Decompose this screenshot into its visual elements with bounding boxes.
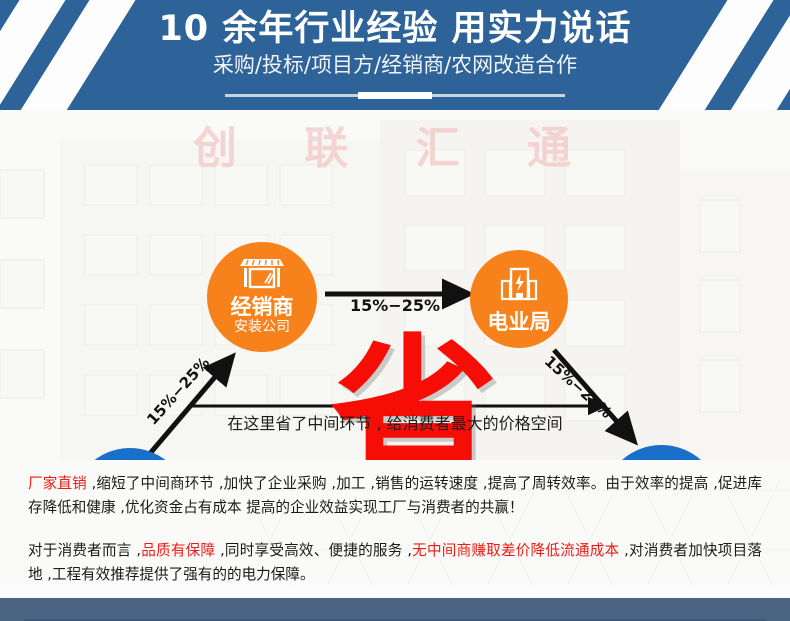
storefront-icon bbox=[207, 255, 317, 294]
header-subtitle: 采购/投标/项目方/经销商/农网改造合作 bbox=[0, 50, 790, 78]
flow-diagram: 创 联 汇 通 省 15%−25% 15%−25% 15%−25% 在这里省了中… bbox=[0, 110, 790, 460]
power-building-icon bbox=[470, 267, 568, 306]
footer-bar bbox=[0, 598, 790, 621]
paragraph-two-highlight-nomiddleman: 无中间商赚取差价降低流通成本 bbox=[412, 542, 619, 559]
node-dealer[interactable]: 经销商 安装公司 bbox=[207, 242, 317, 352]
paragraph-two-highlight-quality: 品质有保障 bbox=[141, 542, 215, 559]
node-power-bureau[interactable]: 电业局 bbox=[470, 250, 568, 348]
description-section: 厂家直销 ,缩短了中间商环节 ,加快了企业采购 ,加工 ,销售的运转速度 ,提高… bbox=[0, 460, 790, 585]
node-dealer-label: 经销商 bbox=[207, 295, 317, 319]
center-save-character: 省 bbox=[330, 342, 490, 460]
paragraph-two-middle: ,同时享受高效、便捷的服务 , bbox=[215, 542, 412, 559]
header-banner: 10 余年行业经验 用实力说话 采购/投标/项目方/经销商/农网改造合作 bbox=[0, 0, 790, 110]
paragraph-one-body: ,缩短了中间商环节 ,加快了企业采购 ,加工 ,销售的运转速度 ,提高了周转效率… bbox=[28, 475, 762, 516]
paragraph-one: 厂家直销 ,缩短了中间商环节 ,加快了企业采购 ,加工 ,销售的运转速度 ,提高… bbox=[28, 460, 762, 520]
paragraph-one-highlight: 厂家直销 bbox=[28, 475, 87, 492]
node-power-bureau-label: 电业局 bbox=[470, 310, 568, 334]
arrow-label-dealer-to-power: 15%−25% bbox=[350, 296, 440, 315]
promo-banner-page: 10 余年行业经验 用实力说话 采购/投标/项目方/经销商/农网改造合作 bbox=[0, 0, 790, 621]
header-divider bbox=[225, 94, 565, 97]
paragraph-two-lead: 对于消费者而言 , bbox=[28, 542, 141, 559]
header-title: 10 余年行业经验 用实力说话 bbox=[0, 0, 790, 50]
diagram-caption: 在这里省了中间环节 , 给消费者最大的价格空间 bbox=[205, 410, 585, 434]
paragraph-two: 对于消费者而言 ,品质有保障 ,同时享受高效、便捷的服务 ,无中间商赚取差价降低… bbox=[28, 520, 762, 585]
node-dealer-sublabel: 安装公司 bbox=[207, 319, 317, 336]
